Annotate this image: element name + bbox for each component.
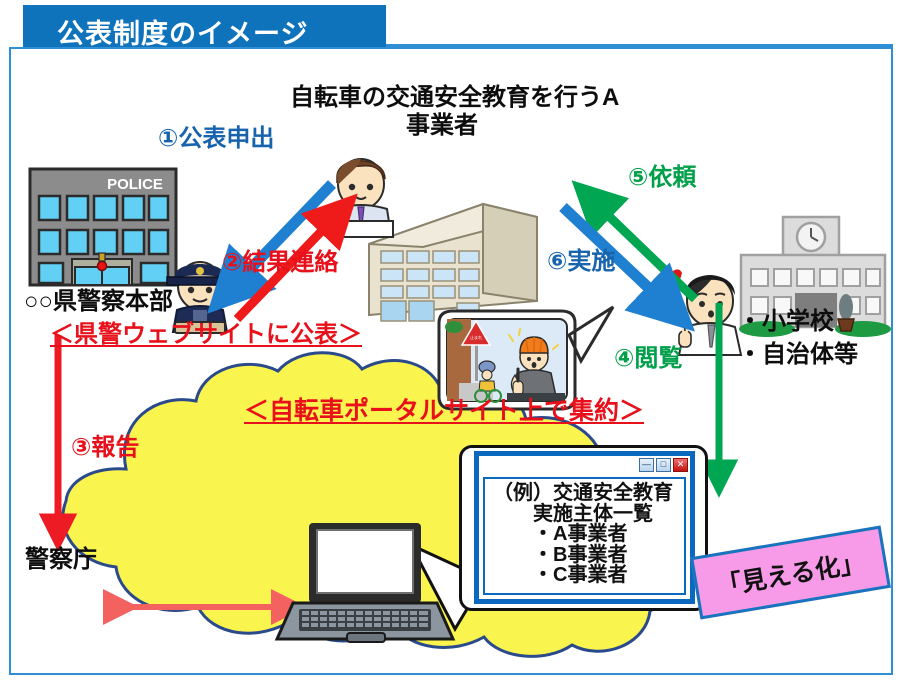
step5-label: ⑤依頼 xyxy=(628,164,696,192)
window-line-5: ・C事業者 xyxy=(493,565,682,586)
police-website-note-label: ＜県警ウェブサイトに公表＞ xyxy=(50,321,362,349)
diagram-page: 公表制度のイメージ ＜自転車ポータルサイト上で集約＞ xyxy=(0,0,900,683)
svg-text:止まれ: 止まれ xyxy=(470,334,482,340)
laptop xyxy=(273,517,458,649)
arrow-step4 xyxy=(705,301,735,501)
window-line-4: ・B事業者 xyxy=(493,545,682,566)
national-police-agency-label: 警察庁 xyxy=(25,546,97,574)
business-operator-label-line1: 自転車の交通安全教育を行うA xyxy=(290,84,619,112)
step2-label: ②結果連絡 xyxy=(222,249,338,277)
arrow-step3 xyxy=(43,333,73,555)
svg-text:POLICE: POLICE xyxy=(107,176,163,193)
example-window[interactable]: ― □ ✕ （例）交通安全教育 実施主体一覧 ・A事業者 ・B事業者 ・C事業者 xyxy=(474,451,695,604)
close-icon[interactable]: ✕ xyxy=(673,458,688,472)
window-line-1: （例）交通安全教育 xyxy=(493,483,682,504)
title-bar: 公表制度のイメージ xyxy=(23,5,386,47)
step6-label: ⑥実施 xyxy=(547,248,615,276)
window-line-3: ・A事業者 xyxy=(493,524,682,545)
police-station-building: POLICE xyxy=(28,167,178,287)
recipients-label-line2: ・自治体等 xyxy=(738,341,858,369)
window-titlebar: ― □ ✕ xyxy=(479,456,690,473)
window-line-2: 実施主体一覧 xyxy=(493,504,682,525)
window-body: （例）交通安全教育 実施主体一覧 ・A事業者 ・B事業者 ・C事業者 xyxy=(483,477,686,595)
visualization-banner-label: 「見える化」 xyxy=(714,542,867,602)
step1-label: ①公表申出 xyxy=(158,125,274,153)
minimize-icon[interactable]: ― xyxy=(639,458,654,472)
step3-label: ③報告 xyxy=(71,434,139,462)
step4-label: ④閲覧 xyxy=(614,345,682,373)
business-operator-label-line2: 事業者 xyxy=(406,112,478,140)
title-underline-rule xyxy=(386,44,893,47)
maximize-icon[interactable]: □ xyxy=(656,458,671,472)
page-title: 公表制度のイメージ xyxy=(57,12,308,51)
prefectural-police-hq-label: ○○県警察本部 xyxy=(24,288,173,316)
portal-note-label: ＜自転車ポータルサイト上で集約＞ xyxy=(244,397,644,427)
recipients-label-line1: ・小学校 xyxy=(738,308,834,336)
